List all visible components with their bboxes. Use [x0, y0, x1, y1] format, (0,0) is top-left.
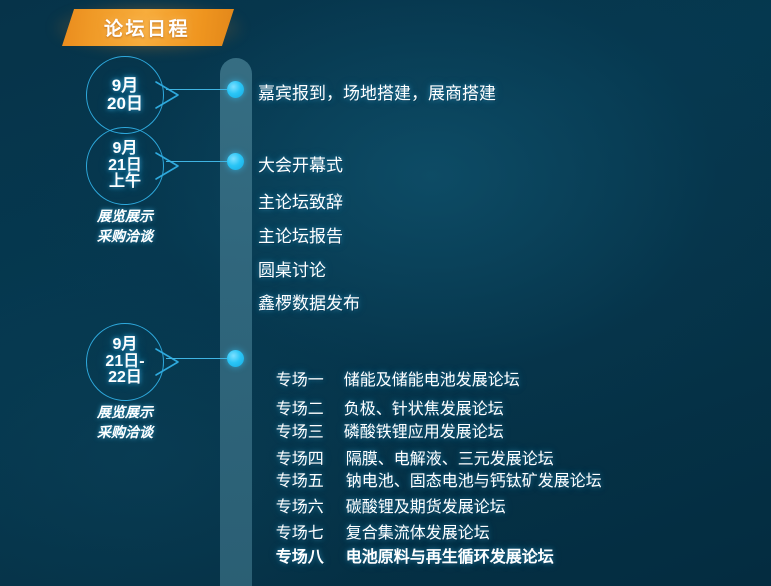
timeline-dot-day1[interactable] — [227, 81, 244, 98]
schedule-item-day2-3: 圆桌讨论 — [258, 256, 326, 281]
schedule-item-day2-2: 主论坛报告 — [258, 222, 343, 247]
timeline-dot-day2[interactable] — [227, 153, 244, 170]
connector-line-day3 — [166, 358, 228, 359]
connector-line-day1 — [166, 89, 228, 90]
page-title: 论坛日程 — [62, 9, 234, 46]
timeline-bar — [220, 58, 252, 586]
schedule-item-day2-0: 大会开幕式 — [258, 151, 343, 176]
timeline-node-day1[interactable]: 9月 20日 — [86, 56, 164, 134]
node-date-day1: 9月 20日 — [86, 56, 164, 134]
timeline-dot-day3[interactable] — [227, 350, 244, 367]
node-date-day3: 9月 21日- 22日 — [86, 323, 164, 401]
node-sublabel-day3: 展览展示 采购洽谈 — [97, 403, 153, 443]
track-title: 电池原料与再生循环发展论坛 — [346, 543, 554, 567]
node-sublabel-day2: 展览展示 采购洽谈 — [97, 207, 153, 247]
node-date-day2: 9月 21日 上午 — [86, 127, 164, 205]
connector-line-day2 — [166, 161, 228, 162]
timeline-node-day3[interactable]: 9月 21日- 22日 — [86, 323, 164, 401]
track-name: 专场八 — [276, 543, 346, 567]
track-row-8[interactable]: 专场八电池原料与再生循环发展论坛 — [258, 525, 554, 585]
schedule-item-day2-1: 主论坛致辞 — [258, 188, 343, 213]
page-title-banner: 论坛日程 — [62, 9, 234, 47]
timeline-node-day2[interactable]: 9月 21日 上午 — [86, 127, 164, 205]
forum-schedule-slide: 论坛日程 9月 20日 嘉宾报到，场地搭建，展商搭建 9月 21日 上午 展览展… — [0, 0, 771, 586]
schedule-item-day1-0: 嘉宾报到，场地搭建，展商搭建 — [258, 79, 496, 104]
schedule-item-day2-4: 鑫椤数据发布 — [258, 289, 360, 314]
